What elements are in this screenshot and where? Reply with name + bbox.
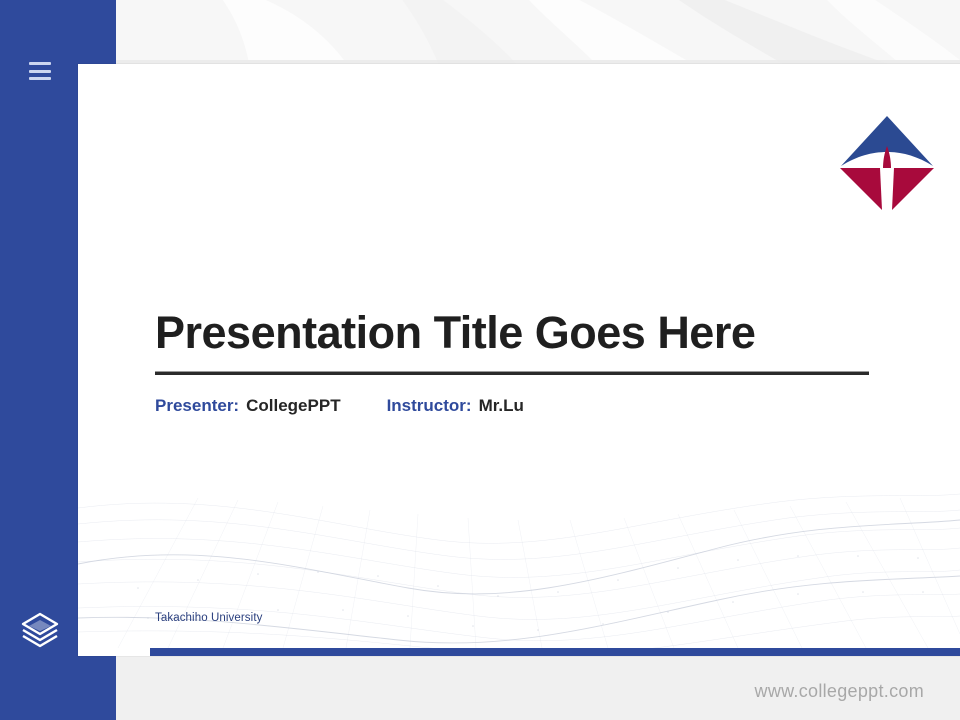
presenter-value: CollegePPT [246,396,340,416]
site-watermark: www.collegeppt.com [755,681,924,702]
presenter-instructor-row: Presenter: CollegePPT Instructor: Mr.Lu [155,396,871,416]
hamburger-bar [29,70,51,73]
title-block: Presentation Title Goes Here Presenter: … [155,309,871,416]
page-root: Presentation Title Goes Here Presenter: … [0,0,960,720]
layers-stack-icon[interactable] [18,608,62,652]
university-name: Takachiho University [155,612,262,624]
top-band-swoosh-graphic [0,0,960,68]
university-logo [832,106,942,216]
hamburger-bar [29,77,51,80]
slide-bottom-accent-bar [150,648,960,656]
presenter-label: Presenter: [155,396,239,416]
hamburger-icon[interactable] [29,62,51,80]
presentation-slide: Presentation Title Goes Here Presenter: … [78,64,960,656]
instructor-label: Instructor: [387,396,472,416]
page-title: Presentation Title Goes Here [155,309,871,356]
top-decorative-band [0,0,960,68]
hamburger-bar [29,62,51,65]
title-underline [155,371,869,375]
instructor-value: Mr.Lu [479,396,524,416]
